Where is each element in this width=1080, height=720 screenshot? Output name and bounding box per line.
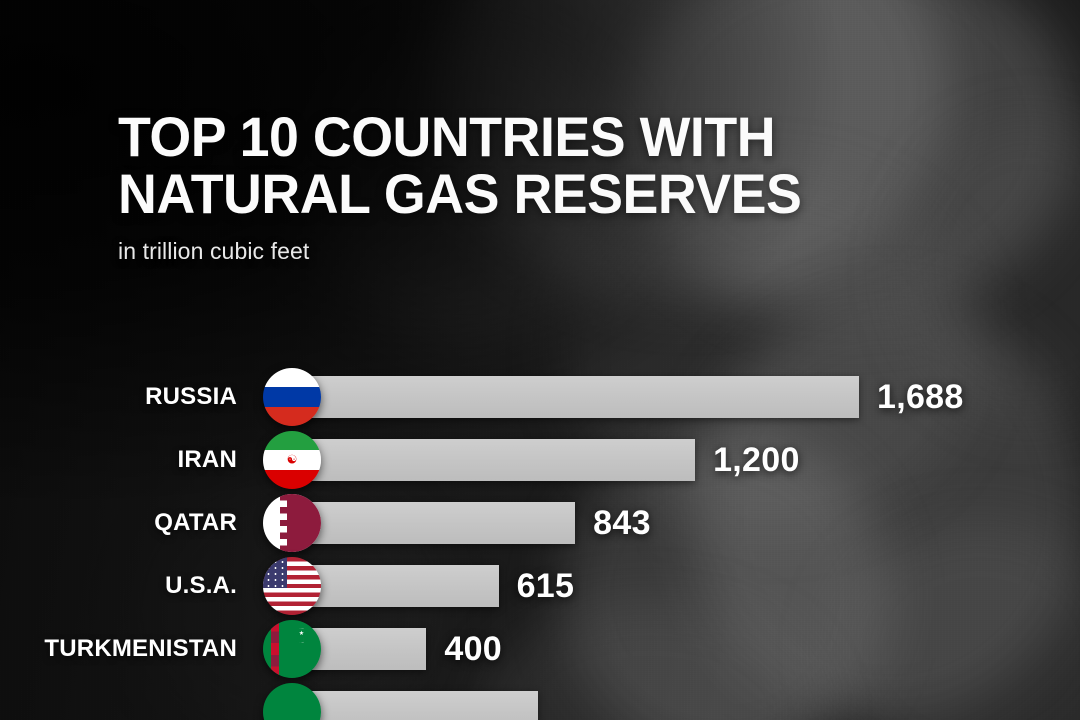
page-subtitle: in trillion cubic feet	[118, 238, 830, 265]
country-label: TURKMENISTAN	[44, 628, 237, 670]
flag-iran-icon: ☯	[263, 431, 321, 489]
flag-icon	[263, 683, 321, 720]
chart-row: IRAN☯1,200	[0, 439, 1080, 502]
chart-row: QATAR843	[0, 502, 1080, 565]
value-bar	[292, 691, 538, 720]
country-label: RUSSIA	[145, 376, 237, 418]
page-title-line1: TOP 10 COUNTRIES WITH	[118, 108, 801, 165]
value-label: 615	[517, 565, 575, 607]
country-label: QATAR	[154, 502, 237, 544]
header: TOP 10 COUNTRIES WITH NATURAL GAS RESERV…	[118, 108, 830, 265]
country-label: U.S.A.	[165, 565, 237, 607]
chart-row-clipped	[0, 691, 1080, 720]
flag-turkmenistan-icon	[263, 620, 321, 678]
value-label: 1,688	[877, 376, 964, 418]
infographic-canvas: TOP 10 COUNTRIES WITH NATURAL GAS RESERV…	[0, 0, 1080, 720]
chart-row: RUSSIA1,688	[0, 376, 1080, 439]
chart-row: TURKMENISTAN400	[0, 628, 1080, 691]
value-label: 843	[593, 502, 651, 544]
flag-usa-icon	[263, 557, 321, 615]
flag-russia-icon	[263, 368, 321, 426]
country-label: IRAN	[178, 439, 237, 481]
page-title-line2: NATURAL GAS RESERVES	[118, 165, 801, 222]
value-bar	[292, 502, 575, 544]
value-label: 1,200	[713, 439, 800, 481]
value-bar	[292, 376, 859, 418]
bar-chart: RUSSIA1,688IRAN☯1,200QATAR843U.S.A.615TU…	[0, 376, 1080, 720]
value-label: 400	[444, 628, 502, 670]
value-bar	[292, 565, 499, 607]
value-bar	[292, 439, 695, 481]
flag-qatar-icon	[263, 494, 321, 552]
chart-row: U.S.A.615	[0, 565, 1080, 628]
